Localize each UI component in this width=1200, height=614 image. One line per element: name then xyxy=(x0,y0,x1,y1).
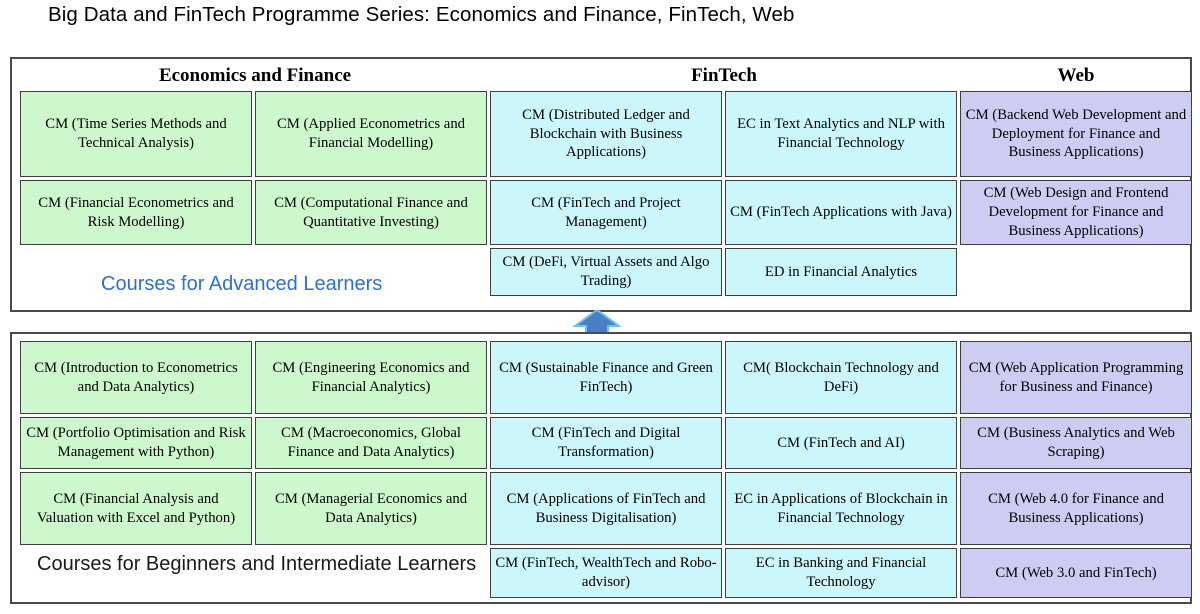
course-box[interactable]: CM (Sustainable Finance and Green FinTec… xyxy=(490,341,722,414)
course-box[interactable]: CM (Backend Web Development and Deployme… xyxy=(960,91,1192,177)
course-box[interactable]: CM( Blockchain Technology and DeFi) xyxy=(725,341,957,414)
course-box[interactable]: ED in Financial Analytics xyxy=(725,248,957,296)
course-box[interactable]: CM (FinTech, WealthTech and Robo-advisor… xyxy=(490,548,722,598)
course-box[interactable]: CM (Managerial Economics and Data Analyt… xyxy=(255,472,487,545)
column-header-web: Web xyxy=(958,65,1194,87)
course-box[interactable]: CM (DeFi, Virtual Assets and Algo Tradin… xyxy=(490,248,722,296)
course-box[interactable]: CM (Time Series Methods and Technical An… xyxy=(20,91,252,177)
course-box[interactable]: CM (Engineering Economics and Financial … xyxy=(255,341,487,414)
course-box[interactable]: CM (Computational Finance and Quantitati… xyxy=(255,180,487,245)
beginner-learners-caption: Courses for Beginners and Intermediate L… xyxy=(37,553,476,576)
course-box[interactable]: CM (Business Analytics and Web Scraping) xyxy=(960,417,1192,469)
course-box[interactable]: CM (Applications of FinTech and Business… xyxy=(490,472,722,545)
course-box[interactable]: CM (Web Application Programming for Busi… xyxy=(960,341,1192,414)
course-box[interactable]: EC in Applications of Blockchain in Fina… xyxy=(725,472,957,545)
course-box[interactable]: CM (FinTech Applications with Java) xyxy=(725,180,957,245)
course-box[interactable]: CM (Macroeconomics, Global Finance and D… xyxy=(255,417,487,469)
course-box[interactable]: CM (FinTech and Digital Transformation) xyxy=(490,417,722,469)
column-header-economics-and-finance: Economics and Finance xyxy=(20,65,490,87)
advanced-learners-caption: Courses for Advanced Learners xyxy=(101,273,382,296)
page-title: Big Data and FinTech Programme Series: E… xyxy=(48,3,795,27)
course-box[interactable]: CM (Financial Econometrics and Risk Mode… xyxy=(20,180,252,245)
course-box[interactable]: EC in Banking and Financial Technology xyxy=(725,548,957,598)
course-box[interactable]: CM (FinTech and Project Management) xyxy=(490,180,722,245)
course-box[interactable]: EC in Text Analytics and NLP with Financ… xyxy=(725,91,957,177)
course-box[interactable]: CM (Introduction to Econometrics and Dat… xyxy=(20,341,252,414)
course-box[interactable]: CM (Distributed Ledger and Blockchain wi… xyxy=(490,91,722,177)
course-box[interactable]: CM (Financial Analysis and Valuation wit… xyxy=(20,472,252,545)
course-box[interactable]: CM (Applied Econometrics and Financial M… xyxy=(255,91,487,177)
course-box[interactable]: CM (Web Design and Frontend Development … xyxy=(960,180,1192,245)
course-box[interactable]: CM (FinTech and AI) xyxy=(725,417,957,469)
course-box[interactable]: CM (Portfolio Optimisation and Risk Mana… xyxy=(20,417,252,469)
course-box[interactable]: CM (Web 3.0 and FinTech) xyxy=(960,548,1192,598)
course-box[interactable]: CM (Web 4.0 for Finance and Business App… xyxy=(960,472,1192,545)
column-header-fintech: FinTech xyxy=(490,65,958,87)
